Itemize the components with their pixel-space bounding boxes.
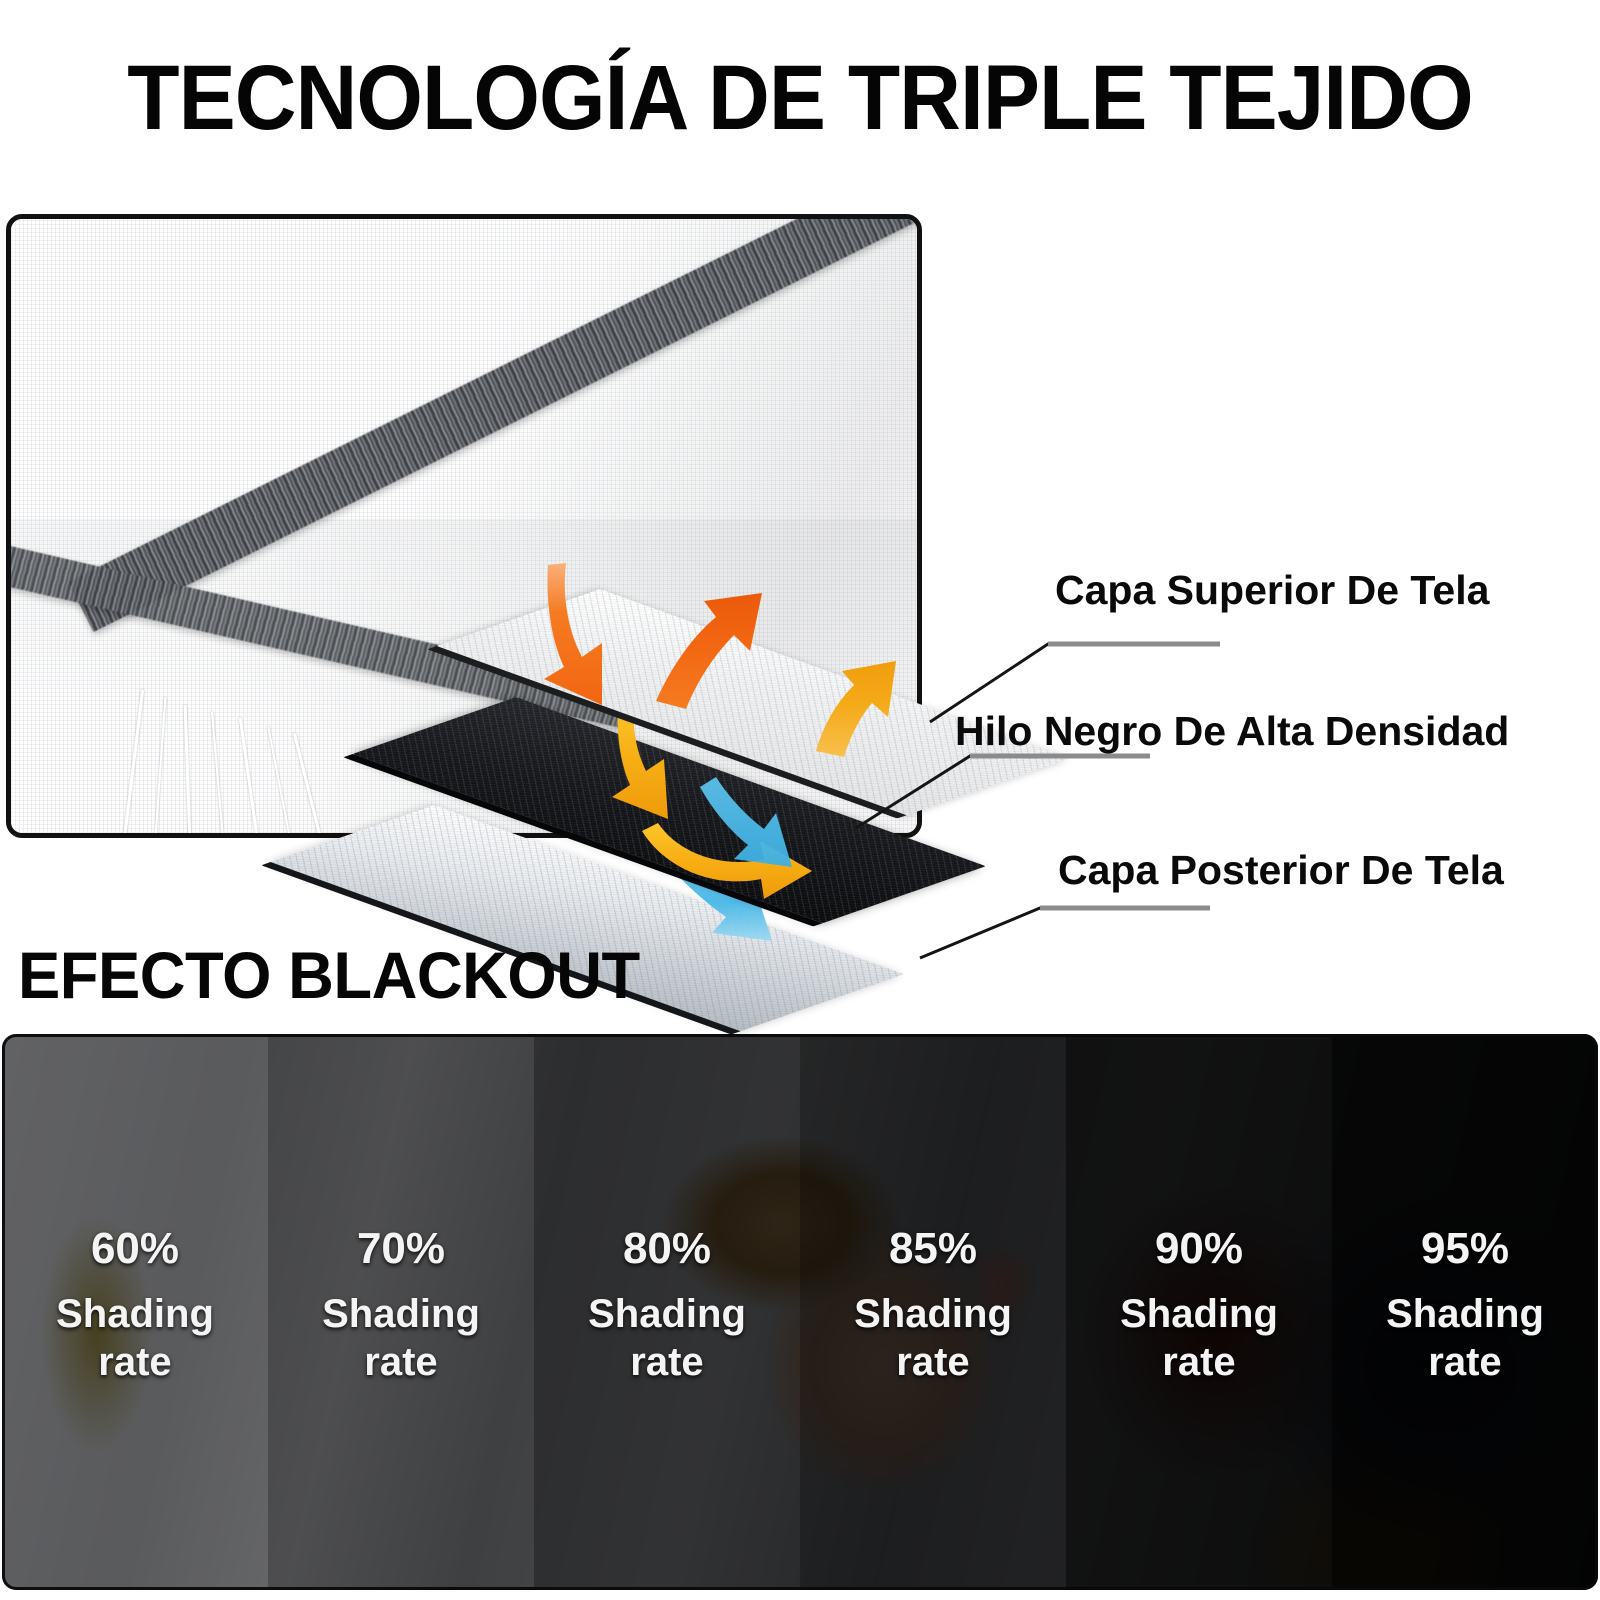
shading-band: 95% Shading rate — [1332, 1034, 1598, 1590]
shading-band-text: 80% Shading rate — [534, 1222, 800, 1386]
shading-band: 60% Shading rate — [2, 1034, 268, 1590]
shading-band-text: 90% Shading rate — [1066, 1222, 1332, 1386]
label-black-yarn-layer: Hilo Negro De Alta Densidad — [955, 707, 1509, 755]
shading-band: 85% Shading rate — [800, 1034, 1066, 1590]
shading-band: 70% Shading rate — [268, 1034, 534, 1590]
blackout-section-heading: EFECTO BLACKOUT — [18, 938, 640, 1012]
shading-band-text: 85% Shading rate — [800, 1222, 1066, 1386]
shading-caption: Shading rate — [1104, 1290, 1294, 1386]
shading-band: 80% Shading rate — [534, 1034, 800, 1590]
shading-band-text: 60% Shading rate — [2, 1222, 268, 1386]
shading-caption: Shading rate — [306, 1290, 496, 1386]
shading-percent: 70% — [268, 1222, 534, 1276]
shading-percent: 80% — [534, 1222, 800, 1276]
shading-band-text: 95% Shading rate — [1332, 1222, 1598, 1386]
label-back-fabric-layer: Capa Posterior De Tela — [1058, 846, 1504, 894]
triple-weave-layer-diagram — [420, 555, 1060, 995]
blackout-comparison-strip: 60% Shading rate 70% Shading rate 80% Sh… — [2, 1034, 1598, 1590]
shading-percent: 85% — [800, 1222, 1066, 1276]
shading-caption: Shading rate — [1370, 1290, 1560, 1386]
shading-percent: 60% — [2, 1222, 268, 1276]
shading-caption: Shading rate — [838, 1290, 1028, 1386]
label-top-fabric-layer: Capa Superior De Tela — [1055, 566, 1489, 614]
shading-percent: 90% — [1066, 1222, 1332, 1276]
page-title: TECNOLOGÍA DE TRIPLE TEJIDO — [56, 48, 1544, 148]
shading-caption: Shading rate — [40, 1290, 230, 1386]
shading-band-text: 70% Shading rate — [268, 1222, 534, 1386]
shading-percent: 95% — [1332, 1222, 1598, 1276]
shading-caption: Shading rate — [572, 1290, 762, 1386]
shading-band: 90% Shading rate — [1066, 1034, 1332, 1590]
